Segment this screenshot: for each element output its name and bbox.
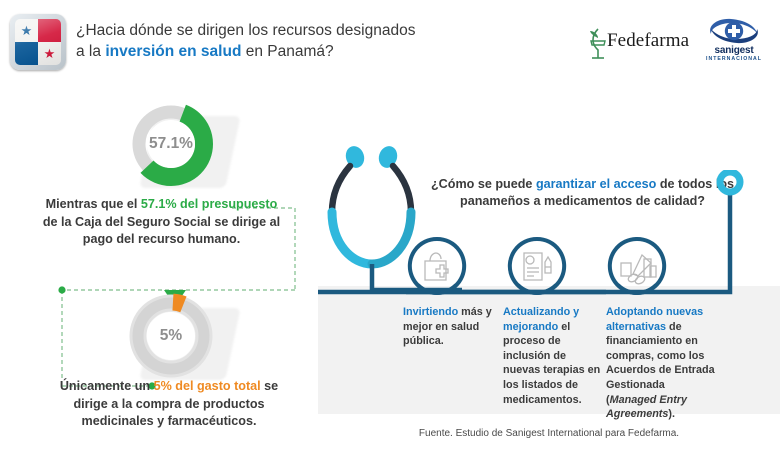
- sanigest-swoosh-icon: [703, 16, 765, 46]
- column-2-text: Actualizando y mejorando el proceso de i…: [503, 305, 601, 407]
- sanigest-wordmark: sanigest: [703, 45, 765, 56]
- logo-sanigest: sanigest INTERNACIONAL: [703, 16, 765, 66]
- title-line-2-suffix: en Panamá?: [241, 43, 333, 60]
- flag-quadrant-top-left: ★: [15, 19, 38, 42]
- flag-quadrant-bottom-left: [15, 42, 38, 65]
- donut-5-value: 5%: [121, 286, 221, 386]
- title-line-1: ¿Hacia dónde se dirigen los recursos des…: [76, 22, 415, 39]
- donut-57-value: 57.1%: [121, 94, 221, 194]
- panama-flag-icon: ★ ★: [10, 14, 66, 70]
- flag-star-blue: ★: [21, 24, 33, 37]
- flag-quadrant-bottom-right: ★: [38, 42, 61, 65]
- sanigest-subtitle: INTERNACIONAL: [703, 56, 765, 62]
- caption-57-prefix: Mientras que el: [46, 197, 141, 211]
- column-3-body-b: ).: [668, 408, 675, 420]
- medical-bag-icon: [406, 235, 468, 297]
- medical-supplies-icon: [606, 235, 668, 297]
- infographic-canvas: ★ ★ ¿Hacia dónde se dirigen los recursos…: [0, 0, 780, 462]
- column-2-body: el proceso de inclusión de nuevas terapi…: [503, 321, 600, 406]
- caption-57-highlight: 57.1% del presupuesto: [141, 197, 277, 211]
- column-3-text: Adoptando nuevas alternativas de financi…: [606, 305, 718, 422]
- header: ★ ★ ¿Hacia dónde se dirigen los recursos…: [0, 0, 780, 88]
- fedefarma-wordmark: Fedefarma: [607, 30, 689, 52]
- caption-5-prefix: Únicamente un: [60, 379, 154, 393]
- donut-chart-5: 5%: [121, 286, 229, 386]
- column-1-text: Invirtiendo más y mejor en salud pública…: [403, 305, 495, 349]
- connector-ring-icon: [720, 172, 740, 192]
- donut-chart-57: 57.1%: [121, 94, 229, 194]
- title-highlight: inversión en salud: [105, 43, 241, 60]
- caption-5: Únicamente un 5% del gasto total se diri…: [44, 378, 294, 431]
- flag-star-red: ★: [44, 47, 56, 60]
- title-line-2-prefix: a la: [76, 43, 105, 60]
- logo-fedefarma: Fedefarma: [585, 24, 685, 60]
- document-pen-icon: [506, 235, 568, 297]
- caption-5-highlight: 5% del gasto total: [154, 379, 261, 393]
- flag-quadrant-top-right: [38, 19, 61, 42]
- caption-57-suffix: de la Caja del Seguro Social se dirige a…: [43, 215, 280, 247]
- column-3-highlight: Adoptando nuevas alternativas: [606, 306, 703, 333]
- caption-57: Mientras que el 57.1% del presupuesto de…: [40, 196, 283, 249]
- page-title: ¿Hacia dónde se dirigen los recursos des…: [76, 20, 466, 62]
- column-1-highlight: Invirtiendo: [403, 306, 458, 318]
- source-note: Fuente. Estudio de Sanigest Internationa…: [318, 428, 780, 439]
